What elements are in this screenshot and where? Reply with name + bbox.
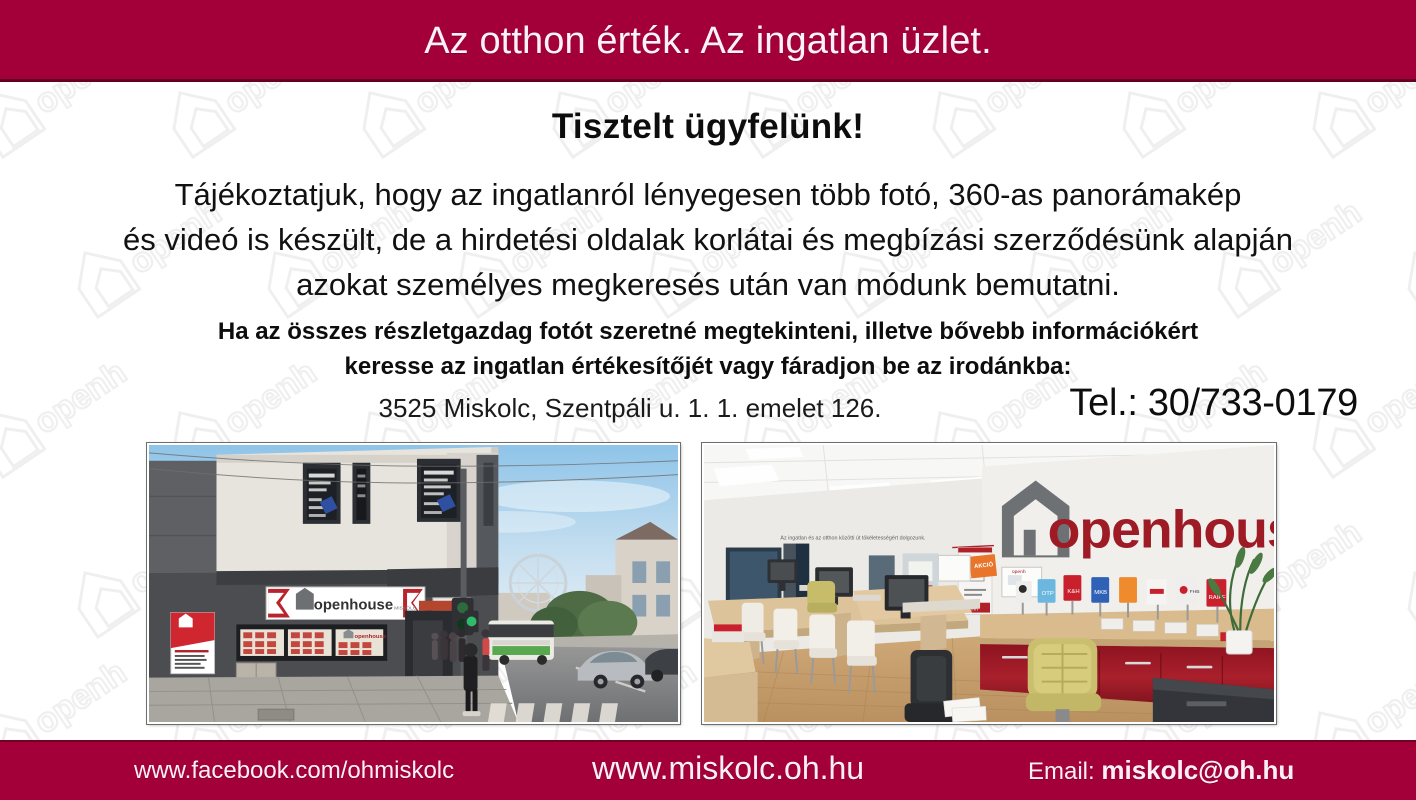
svg-text:openh: openh: [1012, 569, 1026, 575]
footer-email-label: Email:: [1028, 758, 1095, 785]
cta-line: Ha az összes részletgazdag fotót szeretn…: [20, 314, 1396, 349]
photo-office-exterior[interactable]: openhouse MISKOLC: [147, 443, 680, 724]
footer-facebook-link[interactable]: www.facebook.com/ohmiskolc: [134, 757, 454, 785]
header-bar: Az otthon érték. Az ingatlan üzlet.: [0, 0, 1416, 82]
svg-text:Az ingatlan és az otthon közöt: Az ingatlan és az otthon közötti út töké…: [780, 536, 925, 542]
paragraph-line: és videó is készült, de a hirdetési olda…: [20, 217, 1396, 262]
svg-text:FHB: FHB: [1190, 589, 1201, 595]
page-title: Tisztelt ügyfelünk!: [0, 107, 1416, 147]
office-exterior-illustration: openhouse MISKOLC: [149, 445, 678, 722]
advertisement-page: openhouseopenhouseopenhouseopenhouseopen…: [0, 0, 1416, 800]
phone-number[interactable]: Tel.: 30/733-0179: [1069, 382, 1358, 425]
cta-line: keresse az ingatlan értékesítőjét vagy f…: [20, 349, 1396, 384]
footer-email-value[interactable]: miskolc@oh.hu: [1101, 755, 1294, 785]
call-to-action-text: Ha az összes részletgazdag fotót szeretn…: [20, 314, 1396, 384]
office-address: 3525 Miskolc, Szentpáli u. 1. 1. emelet …: [300, 393, 960, 424]
office-interior-illustration: openhouse Az ingatlan és az otthon közöt…: [704, 445, 1274, 722]
info-paragraph: Tájékoztatjuk, hogy az ingatlanról lénye…: [20, 172, 1396, 307]
header-slogan: Az otthon érték. Az ingatlan üzlet.: [424, 20, 992, 63]
paragraph-line: Tájékoztatjuk, hogy az ingatlanról lénye…: [20, 172, 1396, 217]
footer-email[interactable]: Email: miskolc@oh.hu: [1028, 755, 1294, 786]
svg-text:openhouse: openhouse: [354, 634, 386, 640]
svg-text:OTP: OTP: [1042, 591, 1054, 597]
svg-text:openhouse: openhouse: [314, 598, 393, 614]
photo-office-interior[interactable]: openhouse Az ingatlan és az otthon közöt…: [702, 443, 1276, 724]
openhouse-sign-exterior: openhouse MISKOLC: [266, 587, 425, 620]
orange-poster: AKCIÓ: [969, 554, 997, 578]
footer-bar: www.facebook.com/ohmiskolc www.miskolc.o…: [0, 740, 1416, 800]
svg-text:K&H: K&H: [1067, 589, 1079, 595]
executive-chair: [1026, 638, 1101, 722]
paragraph-line: azokat személyes megkeresés után van mód…: [20, 262, 1396, 307]
bus: [488, 620, 554, 664]
footer-website-link[interactable]: www.miskolc.oh.hu: [592, 750, 864, 787]
svg-text:MKB: MKB: [1094, 590, 1107, 596]
